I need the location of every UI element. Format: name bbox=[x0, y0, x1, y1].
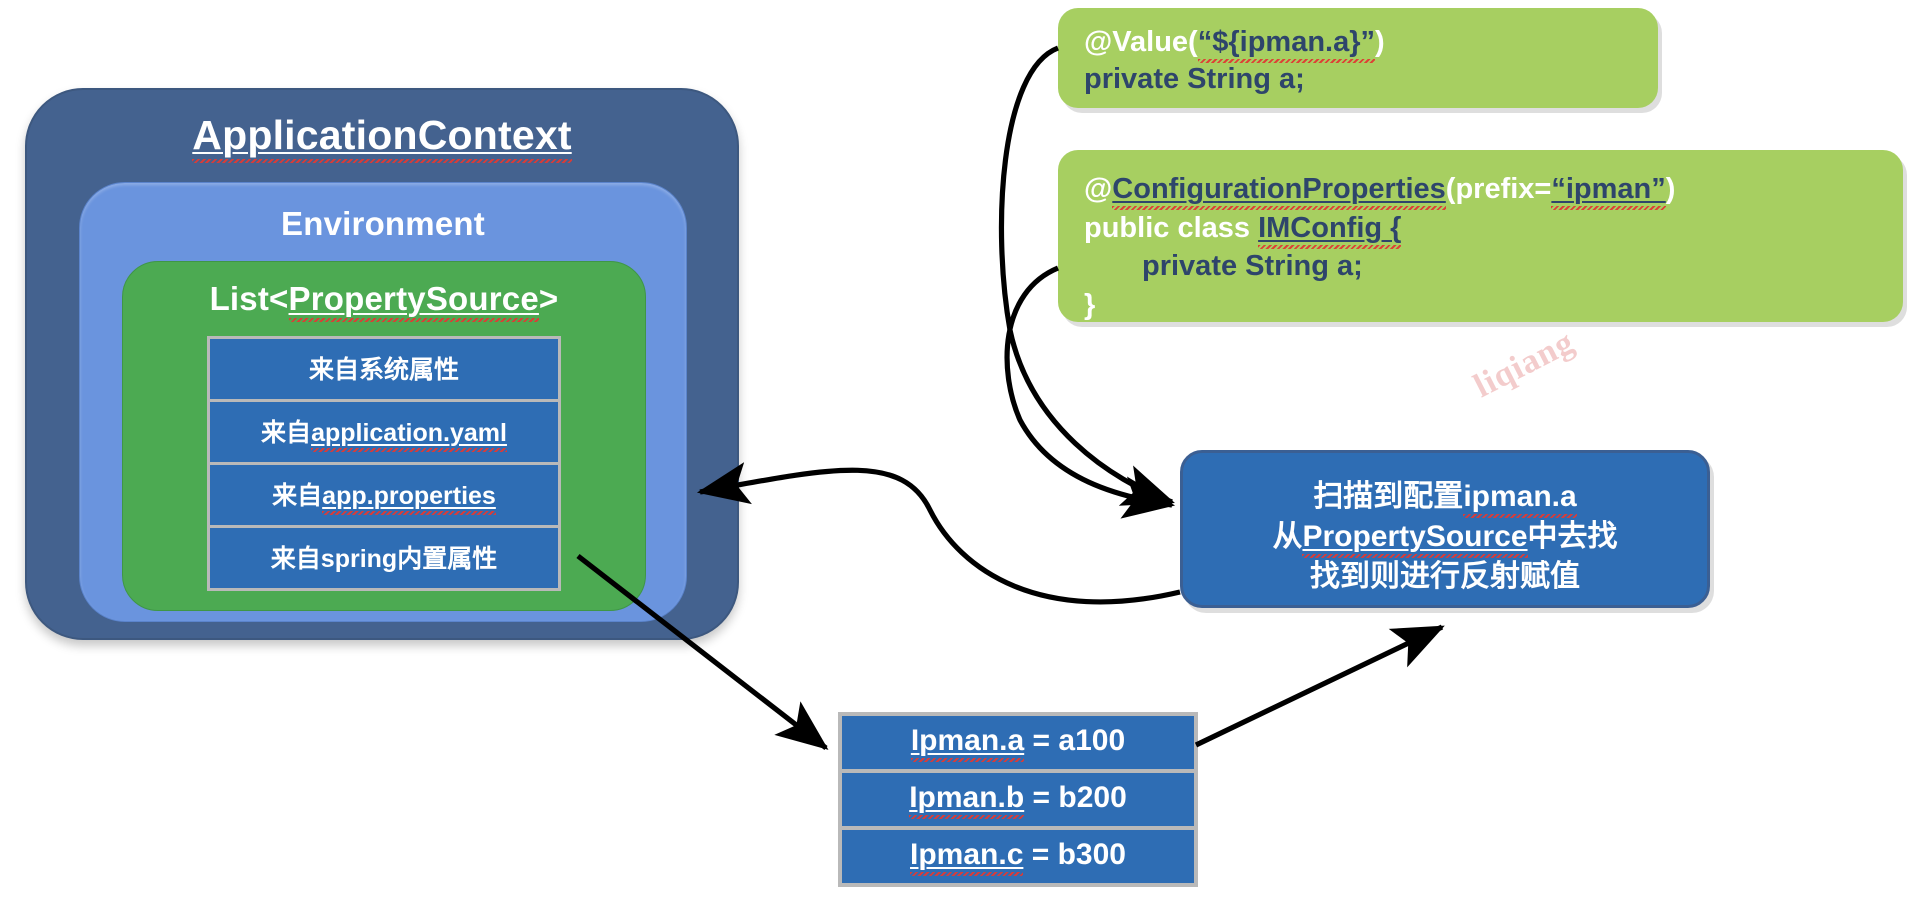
ipman-kv-stack: Ipman.a = a100 Ipman.b = b200 Ipman.c = … bbox=[838, 712, 1198, 887]
list-generic-prefix: List< bbox=[210, 280, 289, 317]
property-source-spring-builtin-label: 来自spring内置属性 bbox=[271, 545, 497, 573]
code-value-card: @Value(“${ipman.a}”) private String a; bbox=[1058, 8, 1658, 108]
property-source-system[interactable]: 来自系统属性 bbox=[210, 339, 558, 399]
at-symbol: @ bbox=[1084, 173, 1112, 205]
property-source-type-label: PropertySource bbox=[289, 280, 539, 317]
scan-key-label: ipman.a bbox=[1463, 480, 1576, 513]
application-context-title: ApplicationContext bbox=[27, 112, 737, 159]
property-source-stack: 来自系统属性 来自application.yaml 来自app.properti… bbox=[207, 336, 561, 591]
application-context-box: ApplicationContext Environment List<Prop… bbox=[25, 88, 739, 640]
ipman-value-a: a100 bbox=[1058, 724, 1125, 757]
ipman-key-a: Ipman.a bbox=[911, 724, 1024, 757]
ipman-sep-a: = bbox=[1024, 724, 1058, 757]
configprops-field-text: private String a; bbox=[1142, 250, 1363, 282]
property-source-spring-builtin[interactable]: 来自spring内置属性 bbox=[210, 528, 558, 588]
watermark-text: liqiang bbox=[1468, 323, 1581, 406]
property-source-app-properties[interactable]: 来自app.properties bbox=[210, 465, 558, 525]
environment-label: Environment bbox=[281, 205, 485, 242]
scan-line-3: 找到则进行反射赋值 bbox=[1183, 557, 1707, 597]
ipman-kv-row-b[interactable]: Ipman.b = b200 bbox=[842, 773, 1194, 826]
arrow-scan-to-environment bbox=[700, 470, 1180, 602]
code-configprops-line-4: } bbox=[1084, 286, 1903, 325]
ipman-value-b: b200 bbox=[1058, 781, 1126, 814]
properties-file-label: app.properties bbox=[322, 482, 496, 510]
diagram-canvas: ApplicationContext Environment List<Prop… bbox=[0, 0, 1912, 918]
class-keyword-text: public class bbox=[1084, 212, 1258, 244]
property-source-system-label: 来自系统属性 bbox=[309, 356, 459, 384]
code-configprops-card: @ConfigurationProperties(prefix=“ipman”)… bbox=[1058, 150, 1903, 322]
scan-line-2: 从PropertySource中去找 bbox=[1183, 517, 1707, 557]
scan-search-label: 中去找 bbox=[1528, 520, 1618, 553]
scan-propertysource-label: PropertySource bbox=[1302, 520, 1527, 553]
value-expression-text: “${ipman.a}” bbox=[1198, 26, 1375, 58]
ipman-key-b: Ipman.b bbox=[909, 781, 1024, 814]
property-source-list-title: List<PropertySource> bbox=[123, 280, 645, 318]
code-value-line-1: @Value(“${ipman.a}”) bbox=[1084, 24, 1658, 61]
yaml-file-label: application.yaml bbox=[311, 419, 507, 447]
code-configprops-line-3: private String a; bbox=[1084, 247, 1903, 286]
ipman-key-c: Ipman.c bbox=[910, 838, 1023, 871]
scan-prefix-label: 扫描到配置 bbox=[1313, 480, 1463, 513]
ipman-sep-c: = bbox=[1023, 838, 1057, 871]
scan-from-label: 从 bbox=[1272, 520, 1302, 553]
code-configprops-line-1: @ConfigurationProperties(prefix=“ipman”) bbox=[1084, 170, 1903, 209]
property-source-application-yaml[interactable]: 来自application.yaml bbox=[210, 402, 558, 462]
environment-title: Environment bbox=[80, 205, 686, 243]
ipman-kv-row-c[interactable]: Ipman.c = b300 bbox=[842, 830, 1194, 883]
arrow-kv-to-scan bbox=[1196, 627, 1442, 745]
environment-box: Environment List<PropertySource> 来自系统属性 … bbox=[79, 182, 687, 622]
class-name-text: IMConfig { bbox=[1258, 212, 1401, 244]
prefix-value-text: “ipman” bbox=[1551, 173, 1665, 205]
prefix-arg-text: (prefix= bbox=[1446, 173, 1552, 205]
list-generic-suffix: > bbox=[539, 280, 558, 317]
ipman-value-c: b300 bbox=[1058, 838, 1126, 871]
ipman-kv-row-a[interactable]: Ipman.a = a100 bbox=[842, 716, 1194, 769]
code-configprops-line-2: public class IMConfig { bbox=[1084, 209, 1903, 248]
value-annotation-close: ) bbox=[1375, 26, 1385, 58]
scan-box: 扫描到配置ipman.a 从PropertySource中去找 找到则进行反射赋… bbox=[1180, 450, 1710, 608]
code-value-line-2: private String a; bbox=[1084, 61, 1658, 98]
configurationproperties-annotation-text: ConfigurationProperties bbox=[1112, 173, 1446, 205]
property-source-list-box: List<PropertySource> 来自系统属性 来自applicatio… bbox=[122, 261, 646, 611]
application-context-label: ApplicationContext bbox=[192, 112, 571, 158]
ipman-sep-b: = bbox=[1024, 781, 1058, 814]
yaml-prefix-label: 来自 bbox=[261, 419, 311, 447]
value-annotation-text: @Value( bbox=[1084, 26, 1198, 58]
properties-prefix-label: 来自 bbox=[272, 482, 322, 510]
scan-line-1: 扫描到配置ipman.a bbox=[1183, 477, 1707, 517]
configprops-close-paren: ) bbox=[1666, 173, 1676, 205]
